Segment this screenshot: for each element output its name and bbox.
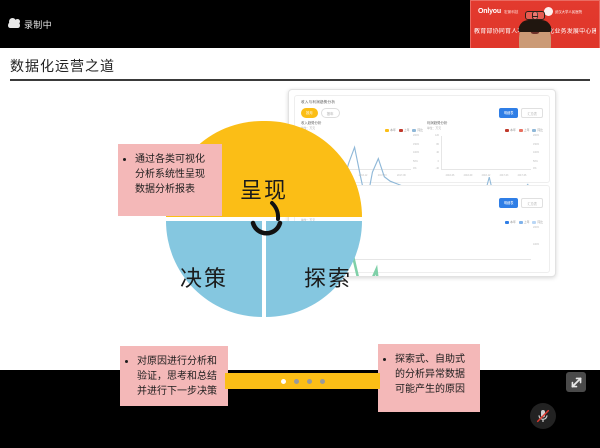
- revenue-chart-legend: 本年 上年 同比: [385, 128, 423, 132]
- profit-chart: 利润趋势分析 单位：万元 本年 上年 同比 12080 400-40 200% …: [427, 120, 543, 178]
- profit-chart-unit: 单位：万元: [427, 126, 441, 130]
- cost-chart-legend: 本年 上年 同比: [505, 220, 543, 224]
- top-pane-pills[interactable]: 按月 按年: [301, 108, 340, 118]
- mic-muted-icon[interactable]: [530, 403, 556, 429]
- pager-dot-4[interactable]: [320, 379, 325, 384]
- logo-text: Onlyou: [478, 8, 501, 15]
- btn-cost-summary[interactable]: 汇总表: [521, 198, 543, 208]
- pill-month[interactable]: 按月: [301, 108, 318, 118]
- expand-arrow-icon[interactable]: [566, 372, 586, 392]
- recording-indicator: 录制中: [8, 18, 52, 31]
- recording-label: 录制中: [24, 18, 52, 31]
- bottom-pane-buttons[interactable]: 明细表 汇总表: [499, 198, 543, 208]
- revenue-y2-axis: 200% 150% 100% 50% 0%: [412, 134, 423, 170]
- slide-canvas: 数据化运营之道 收入与利润趋势分析 按月 按年 明细表 汇总表 收入趋势分析 单…: [0, 48, 600, 370]
- presenter-hair: [519, 20, 552, 32]
- explore-callout-text: 探索式、自助式的分析异常数据可能产生的原因: [395, 352, 472, 397]
- profit-plot-area: [441, 136, 531, 170]
- cloud-icon: [8, 21, 20, 28]
- pager-dots[interactable]: [225, 373, 380, 389]
- present-callout: 通过各类可视化分析系统性呈现数据分析报表: [118, 144, 222, 216]
- cycle-arrow-icon: [242, 197, 290, 245]
- btn-summary[interactable]: 汇总表: [521, 108, 543, 118]
- explore-callout: 探索式、自助式的分析异常数据可能产生的原因: [378, 344, 480, 412]
- profit-x-axis: 2016-06 2016-09 2016-12 2017-03 2017-06: [441, 174, 531, 177]
- cost-y2-axis: 200% 100%: [532, 226, 543, 260]
- top-pane-title: 收入与利润趋势分析: [301, 100, 335, 105]
- title-divider: [10, 79, 590, 81]
- decide-callout-text: 对原因进行分析和验证，思考和总结并进行下一步决策: [137, 354, 220, 399]
- decide-callout: 对原因进行分析和验证，思考和总结并进行下一步决策: [120, 346, 228, 406]
- seal-emblem-icon: [544, 7, 553, 16]
- pager-dot-2[interactable]: [294, 379, 299, 384]
- seal-label: 武汉大学人民医院: [555, 10, 582, 14]
- profit-chart-title: 利润趋势分析: [427, 120, 447, 125]
- profit-y-axis: 12080 400-40: [427, 134, 440, 170]
- circle-label-decide: 决策: [180, 261, 228, 293]
- slide-pager-bar: [225, 373, 380, 389]
- glasses-bridge: [532, 16, 538, 17]
- top-pane-buttons[interactable]: 明细表 汇总表: [499, 108, 543, 118]
- screen-root: 录制中 Onlyou 宏景科技 武汉大学人民医院 教育部协同育人项目 · 数字化…: [0, 0, 600, 448]
- btn-cost-detail[interactable]: 明细表: [499, 198, 519, 208]
- btn-detail[interactable]: 明细表: [499, 108, 519, 118]
- present-callout-text: 通过各类可视化分析系统性呈现数据分析报表: [135, 152, 214, 197]
- video-logo: Onlyou 宏景科技: [478, 8, 520, 15]
- circle-label-explore: 探索: [304, 261, 352, 293]
- pager-dot-3[interactable]: [307, 379, 312, 384]
- pill-year[interactable]: 按年: [321, 108, 340, 118]
- university-seal: 武汉大学人民医院: [544, 7, 582, 16]
- logo-subtext: 宏景科技: [504, 9, 518, 14]
- pager-dot-1[interactable]: [281, 379, 286, 384]
- profit-y2-axis: 200% 150% 100% 50% 0%: [532, 134, 543, 170]
- page-title: 数据化运营之道: [10, 56, 115, 76]
- profit-chart-legend: 本年 上年 同比: [505, 128, 543, 132]
